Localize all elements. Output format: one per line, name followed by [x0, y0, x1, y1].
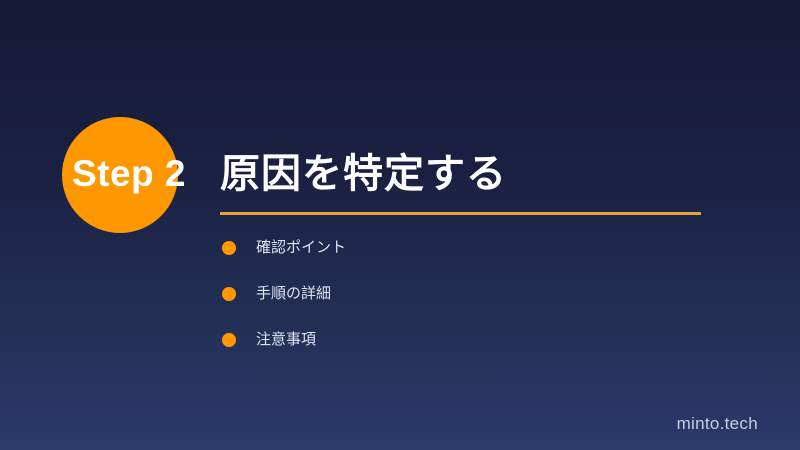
title-divider: [220, 212, 701, 215]
step-badge-label: Step 2: [44, 152, 214, 196]
bullet-item-label: 確認ポイント: [256, 236, 346, 260]
footer-brand: minto.tech: [677, 414, 758, 434]
bullet-list: 確認ポイント 手順の詳細 注意事項: [220, 236, 680, 374]
bullet-dot-icon: [222, 287, 236, 301]
presentation-slide: Step 2 原因を特定する 確認ポイント 手順の詳細 注意事項 minto.t…: [0, 0, 800, 450]
list-item: 注意事項: [220, 328, 680, 374]
slide-title: 原因を特定する: [220, 148, 507, 200]
bullet-dot-icon: [222, 333, 236, 347]
bullet-item-label: 注意事項: [256, 328, 316, 352]
list-item: 手順の詳細: [220, 282, 680, 328]
bullet-item-label: 手順の詳細: [256, 282, 331, 306]
list-item: 確認ポイント: [220, 236, 680, 282]
bullet-dot-icon: [222, 241, 236, 255]
